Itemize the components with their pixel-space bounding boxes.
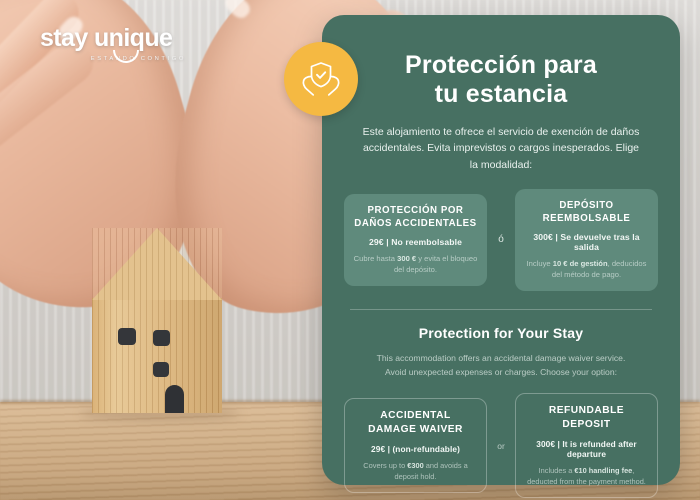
- options-en: ACCIDENTAL DAMAGE WAIVER 29€ | (non-refu…: [344, 393, 658, 498]
- option-price: 300€: [536, 439, 555, 449]
- option-title-line2: REEMBOLSABLE: [543, 213, 631, 224]
- page-title-en: Protection for Your Stay: [344, 325, 658, 341]
- shield-check-in-hands-icon: [299, 58, 343, 100]
- option-note: Covers up to €300 and avoids a deposit h…: [353, 460, 478, 482]
- house-door: [165, 385, 184, 413]
- panel-description: Este alojamiento te ofrece el servicio d…: [358, 124, 644, 173]
- house-grain: [92, 228, 222, 413]
- option-title-line2: DAÑOS ACCIDENTALES: [354, 218, 476, 229]
- protection-panel: Protección para tu estancia Este alojami…: [322, 15, 680, 485]
- option-separator-en: or: [487, 441, 515, 451]
- option-note-pre: Includes a: [539, 466, 575, 475]
- option-note: Includes a €10 handling fee, deducted fr…: [524, 465, 649, 487]
- option-note-pre: Incluye: [527, 259, 553, 268]
- option-condition: (non-refundable): [392, 444, 460, 454]
- option-note: Incluye 10 € de gestión, deducidos del m…: [523, 258, 650, 281]
- page-title-line2: tu estancia: [435, 80, 568, 108]
- option-note-bold: 10 € de gestión: [553, 259, 608, 268]
- brand-name: stay unique: [40, 26, 190, 51]
- option-price-divider: |: [388, 444, 390, 454]
- brand-logo: stay unique ESTANDO CONTIGO: [40, 26, 190, 62]
- option-note-bold: €300: [407, 461, 423, 470]
- option-price-line: 29€ | No reembolsable: [352, 237, 479, 247]
- option-condition: Se devuelve tras la salida: [560, 232, 639, 252]
- option-title-line2: DAMAGE WAIVER: [368, 424, 463, 435]
- page-title-line1: Protección para: [405, 51, 597, 79]
- house-window-2: [153, 330, 170, 346]
- option-card-accidental-damage-es[interactable]: PROTECCIÓN POR DAÑOS ACCIDENTALES 29€ | …: [344, 194, 487, 286]
- option-price-line: 29€ | (non-refundable): [353, 444, 478, 454]
- house-window-3: [153, 362, 169, 377]
- option-title-line1: REFUNDABLE: [549, 405, 624, 416]
- wooden-house: [92, 228, 222, 413]
- option-title-line2: DEPOSIT: [562, 419, 610, 430]
- page-title: Protección para tu estancia: [344, 51, 658, 109]
- panel-description-en: This accommodation offers an accidental …: [366, 352, 636, 380]
- option-price: 29€: [371, 444, 385, 454]
- option-price-divider: |: [386, 237, 389, 247]
- option-note-pre: Cubre hasta: [354, 254, 397, 263]
- section-divider: [350, 309, 652, 310]
- option-price: 300€: [533, 232, 553, 242]
- option-title: REFUNDABLE DEPOSIT: [524, 404, 649, 432]
- protection-badge: [284, 42, 358, 116]
- house-window-1: [118, 328, 136, 345]
- option-note-pre: Covers up to: [363, 461, 407, 470]
- option-separator-es: ó: [487, 234, 515, 245]
- screenshot-root: stay unique ESTANDO CONTIGO Protección p…: [0, 0, 700, 500]
- option-note-bold: €10 handling fee: [574, 466, 632, 475]
- option-price-divider: |: [555, 232, 558, 242]
- option-price-line: 300€ | Se devuelve tras la salida: [523, 232, 650, 252]
- option-title-line1: PROTECCIÓN POR: [368, 205, 464, 216]
- option-card-refundable-deposit-es[interactable]: DEPÓSITO REEMBOLSABLE 300€ | Se devuelve…: [515, 189, 658, 291]
- option-card-refundable-deposit-en[interactable]: REFUNDABLE DEPOSIT 300€ | It is refunded…: [515, 393, 658, 498]
- option-note-bold: 300 €: [397, 254, 416, 263]
- option-note: Cubre hasta 300 € y evita el bloqueo del…: [352, 253, 479, 276]
- option-condition: It is refunded after departure: [562, 439, 636, 459]
- options-es: PROTECCIÓN POR DAÑOS ACCIDENTALES 29€ | …: [344, 189, 658, 291]
- option-price-line: 300€ | It is refunded after departure: [524, 439, 649, 459]
- option-title-line1: DEPÓSITO: [559, 200, 613, 211]
- option-price: 29€: [369, 237, 384, 247]
- option-condition: No reembolsable: [391, 237, 462, 247]
- option-price-divider: |: [558, 439, 560, 449]
- option-title: DEPÓSITO REEMBOLSABLE: [523, 199, 650, 225]
- option-title: ACCIDENTAL DAMAGE WAIVER: [353, 409, 478, 437]
- option-title-line1: ACCIDENTAL: [380, 410, 450, 421]
- option-card-accidental-damage-en[interactable]: ACCIDENTAL DAMAGE WAIVER 29€ | (non-refu…: [344, 398, 487, 493]
- option-title: PROTECCIÓN POR DAÑOS ACCIDENTALES: [352, 204, 479, 230]
